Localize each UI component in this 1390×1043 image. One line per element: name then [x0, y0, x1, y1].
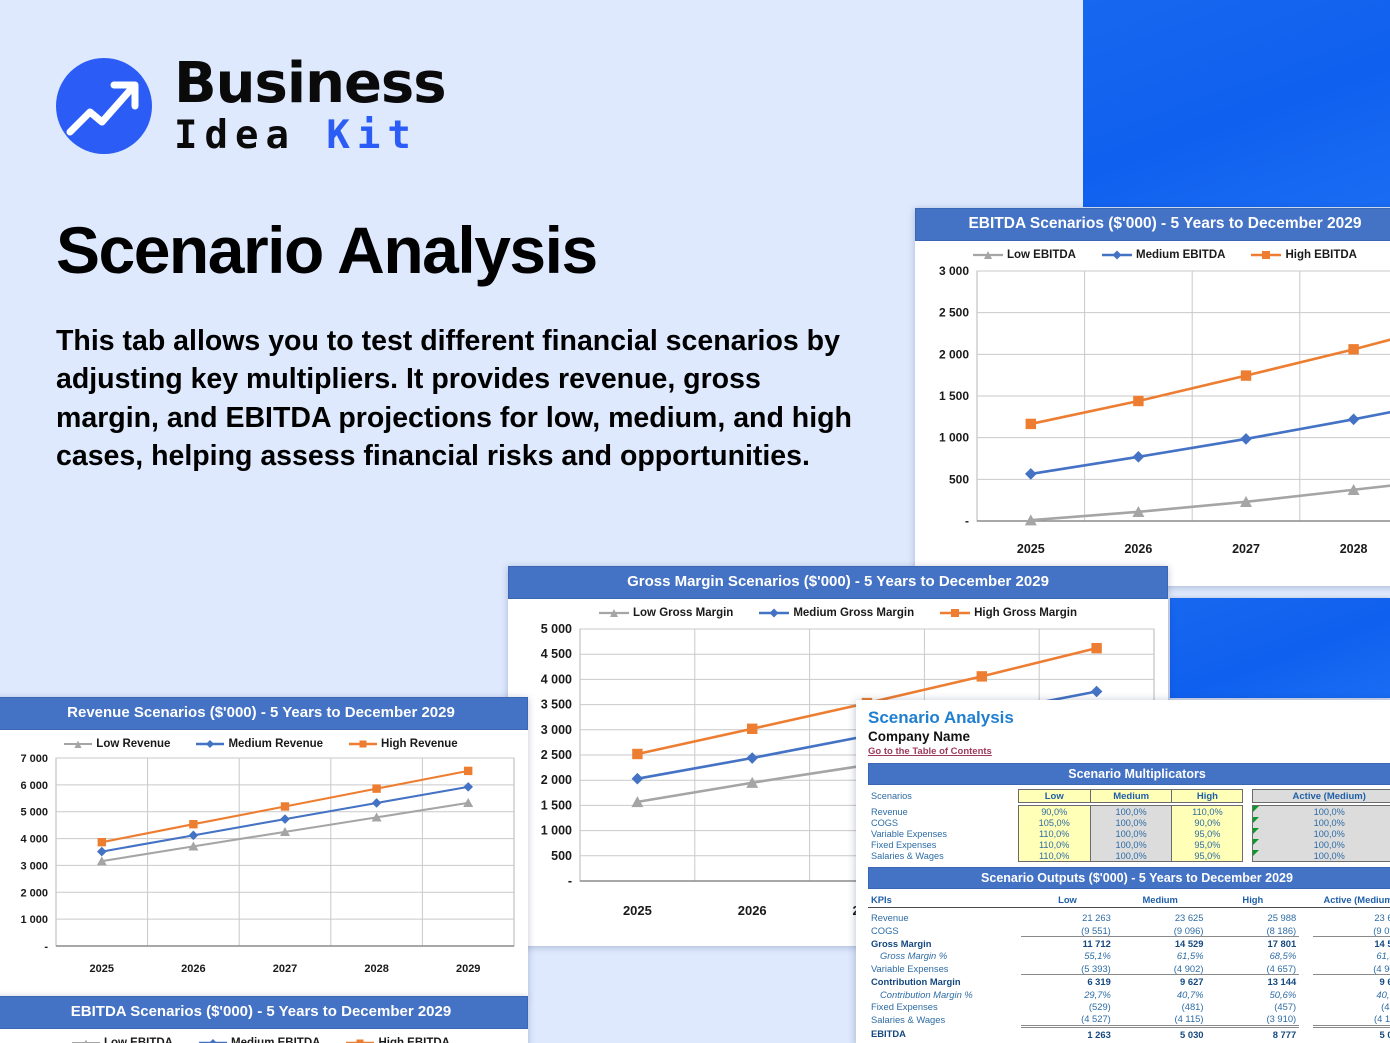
multiplicator-label: Variable Expenses [868, 828, 1018, 839]
output-medium-value: (4 902) [1114, 962, 1207, 975]
output-low-value: 1 263 [1021, 1026, 1114, 1040]
spacer-cell [1243, 806, 1253, 818]
legend-item-medium: Medium Revenue [196, 738, 323, 750]
output-label: Gross Margin % [868, 950, 1021, 962]
column-header-active: Active (Medium) [1313, 893, 1390, 907]
output-label: Gross Margin [868, 937, 1021, 950]
chart-title-revenue: Revenue Scenarios ($'000) - 5 Years to D… [0, 697, 528, 730]
legend-item-low: Low Revenue [64, 738, 170, 750]
svg-text:500: 500 [949, 473, 969, 487]
legend-label-medium: Medium EBITDA [1136, 249, 1225, 261]
output-active-value: (481) [1313, 1000, 1390, 1012]
svg-text:3 000: 3 000 [939, 264, 969, 278]
svg-text:2025: 2025 [623, 903, 652, 918]
svg-text:3 000: 3 000 [20, 860, 48, 872]
column-header-high: High [1207, 893, 1300, 907]
output-row: EBITDA1 2635 0308 7775 030 [868, 1026, 1390, 1040]
output-low-value: (4 527) [1021, 1013, 1114, 1027]
multiplicators-header-row: Scenarios Low Medium High Active (Medium… [868, 790, 1390, 803]
output-row: Gross Margin %55,1%61,5%68,5%61,5% [868, 950, 1390, 962]
spacer-cell [1299, 962, 1313, 975]
svg-text:6 000: 6 000 [20, 780, 48, 792]
legend-marker-square-icon [349, 738, 377, 750]
output-high-value: (457) [1207, 1000, 1300, 1012]
multiplicator-low-input[interactable]: 90,0% [1018, 806, 1090, 818]
output-high-value: 50,6% [1207, 988, 1300, 1000]
legend-label-low: Low EBITDA [104, 1037, 173, 1043]
multiplicator-high-input[interactable]: 90,0% [1172, 817, 1243, 828]
output-medium-value: 61,5% [1114, 950, 1207, 962]
svg-text:2 000: 2 000 [20, 887, 48, 899]
output-medium-value: (4 115) [1114, 1013, 1207, 1027]
svg-text:3 000: 3 000 [541, 723, 572, 737]
legend-label-medium: Medium EBITDA [231, 1037, 320, 1043]
multiplicator-row: Revenue90,0%100,0%110,0%100,0% [868, 806, 1390, 818]
svg-text:2 000: 2 000 [939, 348, 969, 362]
spacer-cell [1299, 1026, 1313, 1040]
svg-text:-: - [965, 514, 969, 528]
spacer-cell [1299, 1000, 1313, 1012]
spacer-cell [1299, 893, 1313, 907]
column-header-low: Low [1021, 893, 1114, 907]
output-label: Contribution Margin [868, 975, 1021, 988]
plot-area-ebitda-top: -5001 0001 5002 0002 5003 00020252026202… [915, 263, 1390, 573]
legend-marker-diamond-icon [1102, 249, 1132, 261]
legend-label-high: High Gross Margin [974, 607, 1077, 619]
output-high-value: (4 657) [1207, 962, 1300, 975]
output-low-value: (9 551) [1021, 924, 1114, 937]
multiplicator-low-input[interactable]: 110,0% [1018, 828, 1090, 839]
legend-label-high: High Revenue [381, 738, 458, 750]
output-row: Contribution Margin6 3199 62713 1449 627 [868, 975, 1390, 988]
chart-card-ebitda-top[interactable]: EBITDA Scenarios ($'000) - 5 Years to De… [915, 208, 1390, 586]
multiplicator-active-value: 100,0% [1253, 839, 1390, 850]
legend-item-high: High EBITDA [1251, 249, 1357, 261]
multiplicator-active-value: 100,0% [1253, 828, 1390, 839]
output-high-value: (8 186) [1207, 924, 1300, 937]
spacer-cell [1299, 988, 1313, 1000]
brand-idea-text: Idea [174, 113, 326, 158]
multiplicator-row: Variable Expenses110,0%100,0%95,0%100,0% [868, 828, 1390, 839]
chart-card-ebitda-bottom[interactable]: EBITDA Scenarios ($'000) - 5 Years to De… [0, 996, 528, 1043]
svg-text:2026: 2026 [738, 903, 767, 918]
svg-text:1 500: 1 500 [939, 389, 969, 403]
output-row: Revenue21 26323 62525 98823 625 [868, 912, 1390, 924]
column-header-active[interactable]: Active (Medium) [1253, 790, 1390, 803]
multiplicator-low-input[interactable]: 110,0% [1018, 839, 1090, 850]
svg-text:2028: 2028 [364, 963, 388, 975]
multiplicator-low-input[interactable]: 110,0% [1018, 850, 1090, 862]
multiplicator-medium-input[interactable]: 100,0% [1090, 839, 1171, 850]
svg-text:4 000: 4 000 [20, 833, 48, 845]
scenario-outputs-table[interactable]: KPIs Low Medium High Active (Medium) Rev… [868, 893, 1390, 1040]
trending-up-arrow-icon [56, 58, 152, 154]
output-active-value: 40,7% [1313, 988, 1390, 1000]
legend-marker-square-icon [346, 1037, 374, 1043]
output-low-value: 55,1% [1021, 950, 1114, 962]
column-header-kpis: KPIs [868, 893, 1021, 907]
svg-text:4 000: 4 000 [541, 672, 572, 686]
spacer-cell [1299, 912, 1313, 924]
brand-kit-text: Kit [326, 113, 417, 158]
output-label: EBITDA [868, 1026, 1021, 1040]
legend-label-medium: Medium Gross Margin [793, 607, 914, 619]
spacer-cell [1299, 924, 1313, 937]
legend-marker-triangle-icon [72, 1037, 100, 1043]
svg-text:4 500: 4 500 [541, 647, 572, 661]
legend-item-medium: Medium Gross Margin [759, 607, 914, 619]
scenario-multiplicators-band: Scenario Multiplicators [868, 763, 1390, 785]
multiplicator-low-input[interactable]: 105,0% [1018, 817, 1090, 828]
legend-label-high: High EBITDA [378, 1037, 450, 1043]
column-header-medium: Medium [1114, 893, 1207, 907]
multiplicator-label: Revenue [868, 806, 1018, 818]
output-medium-value: (481) [1114, 1000, 1207, 1012]
svg-text:3 500: 3 500 [541, 697, 572, 711]
multiplicator-high-input[interactable]: 95,0% [1172, 828, 1243, 839]
output-active-value: (9 096) [1313, 924, 1390, 937]
brand-name-top: Business [174, 56, 446, 112]
output-low-value: 21 263 [1021, 912, 1114, 924]
output-medium-value: (9 096) [1114, 924, 1207, 937]
output-row: Gross Margin11 71214 52917 80114 529 [868, 937, 1390, 950]
spacer-cell [1243, 790, 1253, 803]
output-label: Salaries & Wages [868, 1013, 1021, 1027]
outputs-body: Revenue21 26323 62525 98823 625COGS(9 55… [868, 912, 1390, 1041]
legend-item-high: High EBITDA [346, 1037, 450, 1043]
multiplicator-active-value: 100,0% [1253, 806, 1390, 818]
svg-text:500: 500 [551, 849, 572, 863]
legend-label-low: Low EBITDA [1007, 249, 1076, 261]
output-high-value: (3 910) [1207, 1013, 1300, 1027]
chart-legend-ebitda-top: Low EBITDA Medium EBITDA High EBITDA [915, 241, 1390, 263]
output-medium-value: 5 030 [1114, 1026, 1207, 1040]
legend-label-medium: Medium Revenue [228, 738, 323, 750]
output-low-value: 29,7% [1021, 988, 1114, 1000]
chart-legend-ebitda-bottom: Low EBITDA Medium EBITDA High EBITDA [0, 1029, 528, 1043]
column-header-high[interactable]: High [1172, 790, 1243, 803]
legend-item-low: Low EBITDA [72, 1037, 173, 1043]
output-medium-value: 14 529 [1114, 937, 1207, 950]
svg-text:2026: 2026 [181, 963, 205, 975]
multiplicator-medium-input[interactable]: 100,0% [1090, 817, 1171, 828]
column-header-low[interactable]: Low [1018, 790, 1090, 803]
multiplicator-label: COGS [868, 817, 1018, 828]
chart-legend-gross-margin: Low Gross Margin Medium Gross Margin Hig… [508, 599, 1168, 621]
output-low-value: 11 712 [1021, 937, 1114, 950]
chart-title-gross-margin: Gross Margin Scenarios ($'000) - 5 Years… [508, 566, 1168, 599]
decorative-blue-panel-middle [1170, 598, 1390, 698]
svg-text:2025: 2025 [1017, 542, 1045, 556]
output-high-value: 25 988 [1207, 912, 1300, 924]
legend-marker-diamond-icon [196, 738, 224, 750]
spacer-cell [1299, 950, 1313, 962]
scenario-outputs-band: Scenario Outputs ($'000) - 5 Years to De… [868, 867, 1390, 889]
output-active-value: 23 625 [1313, 912, 1390, 924]
svg-text:-: - [44, 941, 48, 953]
output-active-value: 9 627 [1313, 975, 1390, 988]
legend-marker-diamond-icon [199, 1037, 227, 1043]
output-row: Fixed Expenses(529)(481)(457)(481) [868, 1000, 1390, 1012]
scenarios-row-label: Scenarios [868, 790, 1018, 803]
output-high-value: 68,5% [1207, 950, 1300, 962]
output-label: Variable Expenses [868, 962, 1021, 975]
sheet-heading: Scenario Analysis [868, 708, 1390, 728]
svg-text:2027: 2027 [273, 963, 297, 975]
output-active-value: (4 902) [1313, 962, 1390, 975]
spacer-cell [1243, 850, 1253, 862]
page-title: Scenario Analysis [56, 212, 597, 288]
output-high-value: 8 777 [1207, 1026, 1300, 1040]
legend-label-high: High EBITDA [1285, 249, 1357, 261]
legend-item-low: Low EBITDA [973, 249, 1076, 261]
output-row: COGS(9 551)(9 096)(8 186)(9 096) [868, 924, 1390, 937]
spacer-cell [1299, 975, 1313, 988]
plot-area-revenue: -1 0002 0003 0004 0005 0006 0007 0002025… [0, 752, 528, 990]
output-active-value: 61,5% [1313, 950, 1390, 962]
legend-label-low: Low Revenue [96, 738, 170, 750]
multiplicator-medium-input[interactable]: 100,0% [1090, 850, 1171, 862]
multiplicator-high-input[interactable]: 110,0% [1172, 806, 1243, 818]
multiplicator-medium-input[interactable]: 100,0% [1090, 828, 1171, 839]
legend-item-medium: Medium EBITDA [199, 1037, 320, 1043]
legend-marker-triangle-icon [973, 249, 1003, 261]
multiplicator-high-input[interactable]: 95,0% [1172, 839, 1243, 850]
chart-title-ebitda-bottom: EBITDA Scenarios ($'000) - 5 Years to De… [0, 996, 528, 1029]
svg-text:2025: 2025 [90, 963, 114, 975]
output-active-value: (4 115) [1313, 1013, 1390, 1027]
multiplicator-active-value: 100,0% [1253, 850, 1390, 862]
output-active-value: 14 529 [1313, 937, 1390, 950]
svg-text:2029: 2029 [456, 963, 480, 975]
legend-item-medium: Medium EBITDA [1102, 249, 1225, 261]
output-medium-value: 9 627 [1114, 975, 1207, 988]
svg-text:7 000: 7 000 [20, 753, 48, 765]
svg-text:2 500: 2 500 [939, 306, 969, 320]
output-high-value: 17 801 [1207, 937, 1300, 950]
svg-text:5 000: 5 000 [541, 622, 572, 636]
table-of-contents-link[interactable]: Go to the Table of Contents [868, 746, 992, 757]
page-description: This tab allows you to test different fi… [56, 322, 856, 476]
svg-text:2 500: 2 500 [541, 748, 572, 762]
scenario-multiplicators-table[interactable]: Scenarios Low Medium High Active (Medium… [868, 789, 1390, 862]
multiplicator-label: Fixed Expenses [868, 839, 1018, 850]
legend-item-high: High Gross Margin [940, 607, 1077, 619]
legend-marker-triangle-icon [64, 738, 92, 750]
svg-text:2028: 2028 [1340, 542, 1368, 556]
svg-text:5 000: 5 000 [20, 806, 48, 818]
decorative-blue-panel-top [1083, 0, 1390, 207]
svg-text:2 000: 2 000 [541, 773, 572, 787]
column-header-medium[interactable]: Medium [1090, 790, 1171, 803]
multiplicator-medium-input[interactable]: 100,0% [1090, 806, 1171, 818]
legend-label-low: Low Gross Margin [633, 607, 733, 619]
output-row: Variable Expenses(5 393)(4 902)(4 657)(4… [868, 962, 1390, 975]
output-label: Revenue [868, 912, 1021, 924]
chart-svg-revenue: -1 0002 0003 0004 0005 0006 0007 0002025… [0, 752, 528, 990]
multiplicator-row: COGS105,0%100,0%90,0%100,0% [868, 817, 1390, 828]
legend-marker-diamond-icon [759, 607, 789, 619]
spacer-cell [1243, 839, 1253, 850]
output-row: Salaries & Wages(4 527)(4 115)(3 910)(4 … [868, 1013, 1390, 1027]
output-low-value: (5 393) [1021, 962, 1114, 975]
multiplicator-row: Fixed Expenses110,0%100,0%95,0%100,0% [868, 839, 1390, 850]
output-medium-value: 23 625 [1114, 912, 1207, 924]
multiplicators-body: Revenue90,0%100,0%110,0%100,0%COGS105,0%… [868, 806, 1390, 862]
outputs-header-row: KPIs Low Medium High Active (Medium) [868, 893, 1390, 907]
spacer-cell [1299, 1013, 1313, 1027]
legend-marker-square-icon [1251, 249, 1281, 261]
output-label: Fixed Expenses [868, 1000, 1021, 1012]
sheet-company-name: Company Name [868, 729, 1390, 746]
output-row: Contribution Margin %29,7%40,7%50,6%40,7… [868, 988, 1390, 1000]
output-label: COGS [868, 924, 1021, 937]
multiplicator-active-value: 100,0% [1253, 817, 1390, 828]
output-low-value: 6 319 [1021, 975, 1114, 988]
svg-text:1 000: 1 000 [20, 914, 48, 926]
multiplicator-label: Salaries & Wages [868, 850, 1018, 862]
output-medium-value: 40,7% [1114, 988, 1207, 1000]
chart-legend-revenue: Low Revenue Medium Revenue High Revenue [0, 730, 528, 752]
scenario-analysis-sheet[interactable]: Scenario Analysis Company Name Go to the… [856, 700, 1390, 1043]
chart-svg-ebitda-top: -5001 0001 5002 0002 5003 00020252026202… [915, 263, 1390, 573]
spacer-cell [1243, 817, 1253, 828]
legend-item-high: High Revenue [349, 738, 458, 750]
svg-text:2027: 2027 [1232, 542, 1260, 556]
svg-text:1 000: 1 000 [939, 431, 969, 445]
output-low-value: (529) [1021, 1000, 1114, 1012]
output-high-value: 13 144 [1207, 975, 1300, 988]
output-active-value: 5 030 [1313, 1026, 1390, 1040]
logo-circle [56, 58, 152, 154]
svg-text:1 500: 1 500 [541, 798, 572, 812]
chart-title-ebitda-top: EBITDA Scenarios ($'000) - 5 Years to De… [915, 208, 1390, 241]
spacer-cell [1243, 828, 1253, 839]
brand-name-bottom: Idea Kit [174, 116, 446, 155]
legend-item-low: Low Gross Margin [599, 607, 733, 619]
multiplicator-high-input[interactable]: 95,0% [1172, 850, 1243, 862]
output-label: Contribution Margin % [868, 988, 1021, 1000]
brand-logo: Business Idea Kit [56, 56, 446, 155]
svg-text:1 000: 1 000 [541, 823, 572, 837]
svg-text:-: - [568, 874, 572, 888]
chart-card-revenue[interactable]: Revenue Scenarios ($'000) - 5 Years to D… [0, 697, 528, 997]
multiplicator-row: Salaries & Wages110,0%100,0%95,0%100,0% [868, 850, 1390, 862]
legend-marker-square-icon [940, 607, 970, 619]
legend-marker-triangle-icon [599, 607, 629, 619]
spacer-cell [1299, 937, 1313, 950]
svg-text:2026: 2026 [1124, 542, 1152, 556]
